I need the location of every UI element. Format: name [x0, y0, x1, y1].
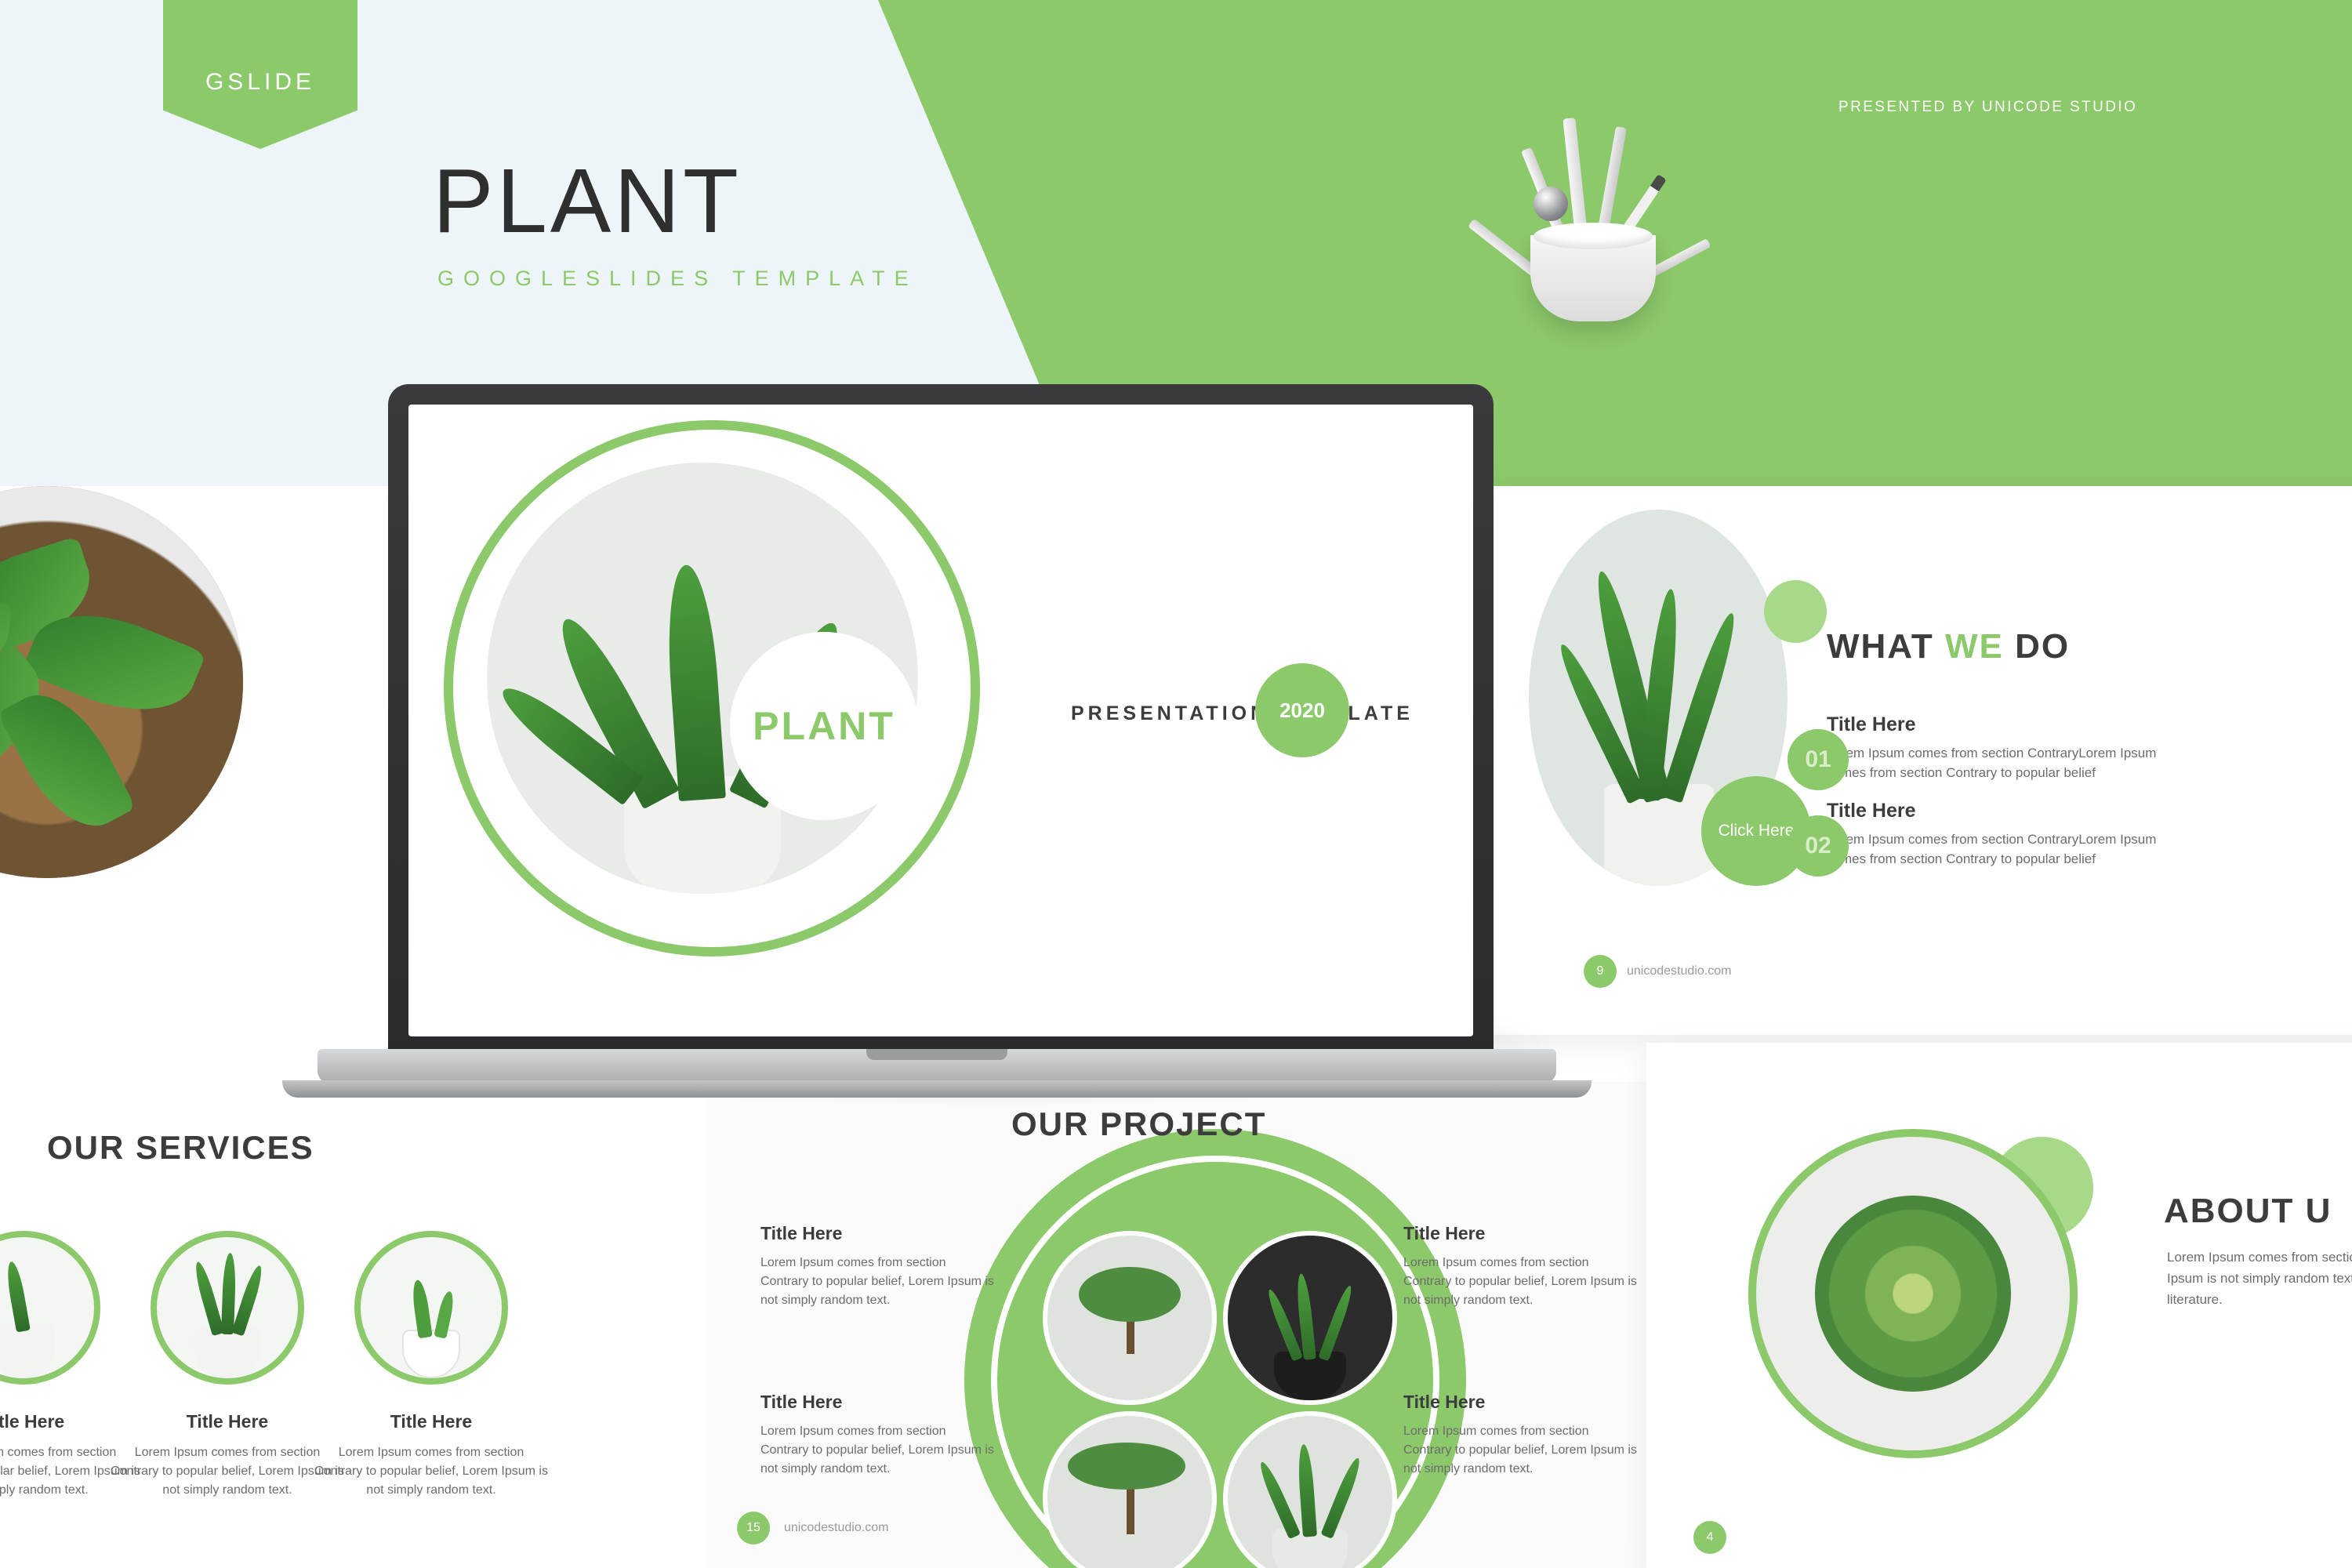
project-body: Lorem Ipsum comes from section Contrary … [1403, 1422, 1639, 1479]
our-project-title: OUR PROJECT [1011, 1105, 1266, 1143]
project-heading: Title Here [760, 1392, 996, 1413]
project-item: Title Here Lorem Ipsum comes from sectio… [760, 1392, 996, 1479]
project-body: Lorem Ipsum comes from section Contrary … [760, 1422, 996, 1479]
project-photo [1043, 1231, 1217, 1405]
item-heading: Title Here [1827, 800, 2164, 822]
cover-slide: PLANT PRESENTATION TEMPLATE 2020 [408, 405, 1473, 1036]
foliage-shape [1079, 1267, 1181, 1322]
service-photo [354, 1231, 508, 1385]
laptop-base [318, 1049, 1556, 1083]
slide-number-badge: 9 [1584, 955, 1617, 988]
pot-shape [402, 1330, 460, 1378]
leaf-shape [1297, 1444, 1317, 1537]
left-plant-photo [0, 486, 243, 878]
service-body: Lorem Ipsum comes from section Contrary … [110, 1443, 345, 1500]
project-photo [1223, 1231, 1397, 1405]
project-heading: Title Here [1403, 1392, 1639, 1413]
cover-badge: PLANT [730, 632, 918, 820]
list-item: 01 Title Here Lorem Ipsum comes from sec… [1827, 713, 2164, 782]
slide-footer-url: unicodestudio.com [1627, 964, 1731, 978]
service-item: Title Here Lorem Ipsum comes from sectio… [110, 1231, 345, 1500]
page-title: PLANT [433, 155, 742, 246]
leaf-shape [5, 1261, 31, 1333]
laptop-base-front [282, 1080, 1592, 1098]
project-item: Title Here Lorem Ipsum comes from sectio… [1403, 1392, 1639, 1479]
cup-shape [1530, 235, 1656, 321]
laptop-lid: PLANT PRESENTATION TEMPLATE 2020 [388, 384, 1494, 1058]
service-photo [0, 1231, 100, 1385]
item-heading: Title Here [1827, 713, 2164, 736]
project-item: Title Here Lorem Ipsum comes from sectio… [1403, 1223, 1639, 1310]
project-item: Title Here Lorem Ipsum comes from sectio… [760, 1223, 996, 1310]
leaf-shape [1256, 1460, 1301, 1540]
title-word-do: DO [2015, 627, 2070, 666]
title-word-what: WHAT [1827, 627, 1934, 666]
knob-icon [1534, 187, 1568, 221]
leaf-shape [1320, 1456, 1363, 1539]
presented-by-label: PRESENTED BY UNICODE STUDIO [1838, 99, 2137, 116]
service-heading: Title Here [110, 1411, 345, 1432]
service-heading: Title Here [314, 1411, 549, 1432]
project-body: Lorem Ipsum comes from section Contrary … [760, 1254, 996, 1310]
leaf-shape [662, 564, 726, 801]
leaf-shape [1318, 1284, 1355, 1362]
item-body: Lorem Ipsum comes from section ContraryL… [1827, 830, 2164, 869]
decorative-circle [1764, 580, 1827, 643]
title-word-we: WE [1945, 627, 2004, 666]
service-body: Lorem Ipsum comes from section Contrary … [314, 1443, 549, 1500]
service-item: Title Here Lorem Ipsum comes from sectio… [314, 1231, 549, 1500]
succulent-photo [1748, 1129, 2078, 1458]
slide-number-badge: 4 [1693, 1521, 1726, 1554]
pot-shape [194, 1328, 261, 1378]
poster-canvas: GSLIDE PLANT GOOGLESLIDES TEMPLATE PRESE… [0, 0, 2352, 1568]
item-number-badge: 02 [1788, 815, 1849, 877]
trunk-shape [1127, 1487, 1134, 1534]
slide-footer-url: unicodestudio.com [784, 1521, 888, 1535]
leaf-shape [231, 1264, 266, 1336]
slide-about-us[interactable]: ABOUT U Lorem Ipsum comes from section L… [1646, 1043, 2352, 1568]
item-body: Lorem Ipsum comes from section ContraryL… [1827, 744, 2164, 782]
pencil-cup-image [1474, 110, 1733, 361]
slide-what-we-do[interactable]: Click Here WHAT WE DO 01 Title Here Lore… [1474, 486, 2352, 1035]
foliage-shape [1068, 1443, 1185, 1490]
succulent-shape [1815, 1196, 2011, 1392]
about-us-body: Lorem Ipsum comes from section Lorem Ips… [2167, 1247, 2352, 1311]
project-heading: Title Here [1403, 1223, 1639, 1244]
project-heading: Title Here [760, 1223, 996, 1244]
slide-our-project[interactable]: OUR PROJECT Title Here Lorem Ipsum comes… [706, 1082, 1646, 1568]
about-us-title: ABOUT U [2164, 1192, 2332, 1231]
slide-our-services[interactable]: OUR SERVICES Title Here Lorem Ipsum come… [0, 1082, 706, 1568]
brand-tag-label: GSLIDE [163, 69, 358, 96]
leaf-shape [192, 1261, 225, 1337]
project-body: Lorem Ipsum comes from section Contrary … [1403, 1254, 1639, 1310]
laptop-mockup: PLANT PRESENTATION TEMPLATE 2020 [376, 384, 1497, 1121]
pot-shape [0, 1323, 55, 1378]
page-subtitle: GOOGLESLIDES TEMPLATE [437, 267, 918, 291]
what-we-do-title: WHAT WE DO [1827, 627, 2070, 666]
cover-caption: PRESENTATION TEMPLATE [1071, 702, 1414, 725]
cover-year-badge: 2020 [1255, 663, 1349, 757]
laptop-screen[interactable]: PLANT PRESENTATION TEMPLATE 2020 [408, 405, 1473, 1036]
item-number-badge: 01 [1788, 729, 1849, 790]
list-item: 02 Title Here Lorem Ipsum comes from sec… [1827, 800, 2164, 869]
cover-badge-label: PLANT [753, 703, 895, 749]
slide-number-badge: 15 [737, 1512, 770, 1544]
our-services-title: OUR SERVICES [47, 1129, 314, 1167]
service-photo [151, 1231, 304, 1385]
